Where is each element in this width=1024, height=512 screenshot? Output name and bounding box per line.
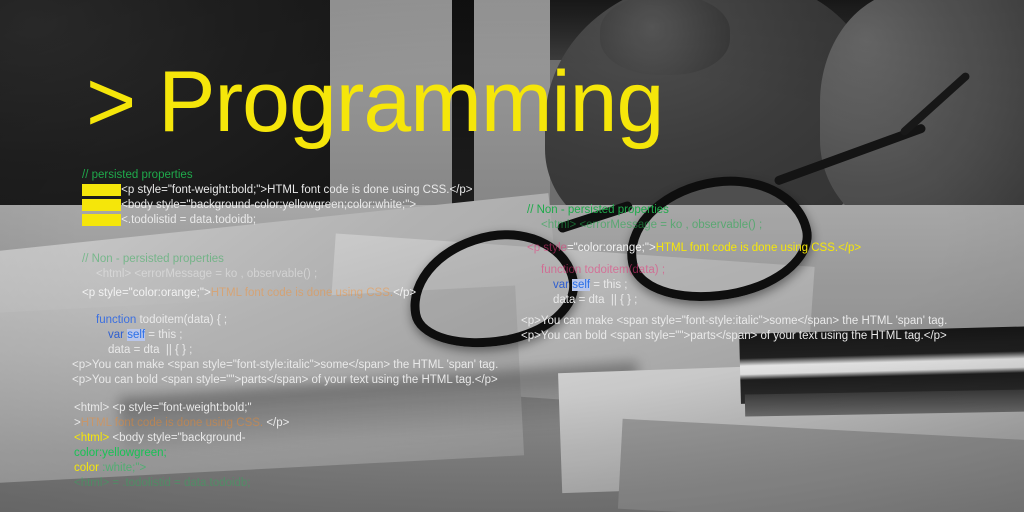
code-line: <p>You can make <span style="font-style:… [521, 315, 947, 327]
keyword-function: function [96, 314, 136, 326]
html-tag-badge: <html> [82, 184, 121, 196]
css-property: color [74, 447, 99, 459]
variable-self: self [127, 329, 145, 341]
html-tag-open: <html> [74, 432, 109, 444]
code-line: <body style="background-color:yellowgree… [121, 199, 416, 211]
code-line: <html> = .todolistid = data.todoidb; [74, 477, 250, 489]
css-value: :yellowgreen; [99, 447, 167, 459]
code-comment: // Non - persisted properties [527, 204, 669, 216]
code-line: <p>You can bold <span style="">parts</sp… [521, 330, 947, 342]
code-comment: // Non - persisted properties [82, 253, 224, 265]
html-tag-p: <p style [527, 242, 567, 254]
code-line: <p>You can make <span style="font-style:… [72, 359, 498, 371]
code-block-right-function: function todoitem(data) ; var self = thi… [527, 263, 665, 308]
code-block-left-spans: <p>You can make <span style="font-style:… [72, 358, 498, 388]
code-line: <p style="color:orange;"> [82, 287, 211, 299]
css-property: color [74, 462, 99, 474]
page-title: > Programming [86, 59, 663, 145]
code-line: <p style="font-weight:bold;">HTML font c… [121, 184, 472, 196]
keyword-var: var [108, 329, 124, 341]
css-value: :white;"> [102, 462, 146, 474]
code-comment: // persisted properties [82, 169, 193, 181]
code-block-left-mid: // Non - persisted properties <html> <er… [82, 252, 317, 282]
code-line: <html> <errorMessage = ko , observable()… [527, 219, 762, 231]
code-line: = this ; [148, 329, 182, 341]
code-line: <html> <errorMessage = ko , observable()… [82, 268, 317, 280]
code-highlight-text: HTML font code is done using CSS. [81, 417, 263, 429]
html-tag-badge: <html> [82, 214, 121, 226]
code-block-left-paragraph: <p style="color:orange;">HTML font code … [82, 286, 416, 301]
code-line: data = dta || { } ; [527, 294, 637, 306]
code-line: data = dta || { } ; [82, 344, 192, 356]
code-line: todoitem(data) { ; [139, 314, 227, 326]
code-line: > [74, 417, 81, 429]
code-block-right-top: // Non - persisted properties <html> <er… [527, 203, 762, 233]
html-tag-badge: <html> [82, 199, 121, 211]
code-block-left-bottom: <html> <p style="font-weight:bold;" >HTM… [74, 401, 289, 491]
code-highlight-text: HTML font code is done using CSS.</p> [656, 242, 861, 254]
keyword-var: var [553, 279, 569, 291]
code-block-right-spans: <p>You can make <span style="font-style:… [521, 314, 947, 344]
code-line: <.todolistid = data.todoidb; [121, 214, 256, 226]
code-attribute: ="color:orange;"> [567, 242, 656, 254]
slide-content: > Programming // persisted properties <h… [0, 0, 1024, 512]
code-block-right-paragraph: <p style="color:orange;">HTML font code … [527, 241, 861, 256]
code-line: <html> <p style="font-weight:bold;" [74, 402, 252, 414]
code-line: </p> [393, 287, 416, 299]
code-block-left-top: // persisted properties <html><p style="… [82, 168, 473, 228]
code-block-left-function: function todoitem(data) { ; var self = t… [82, 313, 227, 358]
slide-canvas: > Programming // persisted properties <h… [0, 0, 1024, 512]
code-line: <body style="background- [109, 432, 245, 444]
function-signature: function todoitem(data) ; [527, 264, 665, 276]
code-line: <p>You can bold <span style="">parts</sp… [72, 374, 498, 386]
variable-self: self [572, 279, 590, 291]
code-line: </p> [266, 417, 289, 429]
code-highlight-text: HTML font code is done using CSS. [211, 287, 393, 299]
code-line: = this ; [593, 279, 627, 291]
